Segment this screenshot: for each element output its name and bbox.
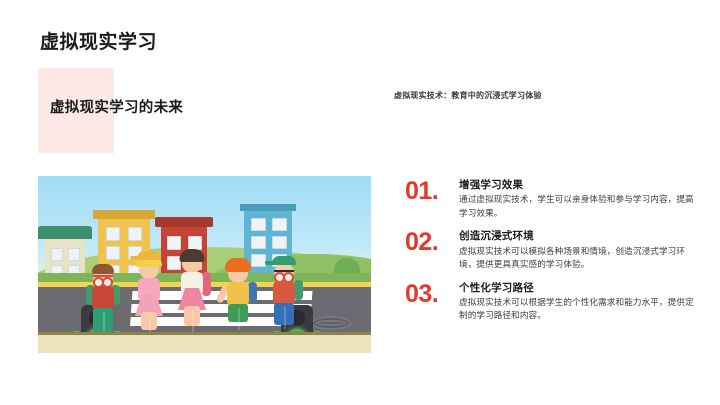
sun-hat (137, 251, 161, 260)
list-item-heading: 创造沉浸式环境 (459, 229, 695, 243)
list-item-number: 02. (405, 229, 457, 255)
list-item-number: 01. (405, 178, 457, 204)
eyeglasses (274, 270, 294, 279)
child-figure (270, 254, 298, 340)
building-window (251, 254, 266, 267)
list-item-body: 通过虚拟现实技术，学生可以亲身体验和参与学习内容，提高学习效果。 (459, 193, 695, 220)
kicker-caption: 虚拟现实技术：教育中的沉浸式学习体验 (394, 90, 542, 101)
list-item-body: 虚拟现实技术可以根据学生的个性化需求和能力水平，提供定制的学习路径和内容。 (459, 296, 695, 323)
eyeglasses (93, 275, 113, 284)
child-torso (273, 281, 295, 305)
child-figure (178, 246, 206, 340)
list-item-body: 虚拟现实技术可以模拟各种场景和情境，创造沉浸式学习环境，提供更具真实感的学习体验… (459, 245, 695, 272)
building-window (51, 248, 63, 261)
list-item: 03. 个性化学习路径 虚拟现实技术可以根据学生的个性化需求和能力水平，提供定制… (405, 281, 695, 323)
child-torso (227, 282, 249, 306)
building-window (106, 246, 120, 260)
child-legs (93, 308, 113, 334)
slide-canvas: 虚拟现实学习 虚拟现实学习的未来 虚拟现实技术：教育中的沉浸式学习体验 (0, 0, 720, 405)
building-window (128, 227, 142, 241)
child-figure (90, 264, 116, 340)
page-title: 虚拟现实学习 (40, 27, 157, 54)
building-window (272, 236, 287, 249)
feature-list: 01. 增强学习效果 通过虚拟现实技术，学生可以亲身体验和参与学习内容，提高学习… (405, 178, 695, 332)
child-legs (228, 304, 248, 322)
children-crossing-street-illustration (38, 176, 371, 353)
building-window (68, 248, 80, 261)
building-roof (93, 210, 155, 219)
building-roof (38, 226, 92, 239)
list-item: 02. 创造沉浸式环境 虚拟现实技术可以模拟各种场景和情境，创造沉浸式学习环境，… (405, 229, 695, 271)
child-torso (92, 286, 114, 310)
building-window (272, 218, 287, 231)
building-window (251, 218, 266, 231)
building-window (251, 236, 266, 249)
baseball-cap (272, 256, 296, 265)
list-item-heading: 个性化学习路径 (459, 281, 695, 295)
backpack (294, 280, 303, 300)
backpack (202, 272, 211, 296)
child-legs (141, 312, 157, 330)
child-hair (92, 264, 114, 274)
list-item: 01. 增强学习效果 通过虚拟现实技术，学生可以亲身体验和参与学习内容，提高学习… (405, 178, 695, 220)
list-item-heading: 增强学习效果 (459, 178, 695, 192)
list-item-text: 个性化学习路径 虚拟现实技术可以根据学生的个性化需求和能力水平，提供定制的学习路… (457, 281, 695, 323)
child-legs (184, 306, 200, 326)
sidewalk (38, 332, 371, 353)
list-item-text: 增强学习效果 通过虚拟现实技术，学生可以亲身体验和参与学习内容，提高学习效果。 (457, 178, 695, 220)
child-legs (274, 303, 294, 325)
slide-subtitle: 虚拟现实学习的未来 (50, 96, 183, 117)
list-item-number: 03. (405, 281, 457, 307)
child-figure (135, 250, 163, 340)
backpack (248, 282, 257, 302)
child-figure (224, 258, 252, 340)
manhole-cover (311, 316, 351, 330)
child-hair (225, 258, 251, 272)
building-roof (240, 204, 296, 211)
building-window (106, 227, 120, 241)
list-item-text: 创造沉浸式环境 虚拟现实技术可以模拟各种场景和情境，创造沉浸式学习环境，提供更具… (457, 229, 695, 271)
child-hair (180, 249, 205, 262)
building-roof (155, 217, 213, 227)
child-shoes (272, 325, 296, 331)
child-shoes (180, 326, 204, 332)
